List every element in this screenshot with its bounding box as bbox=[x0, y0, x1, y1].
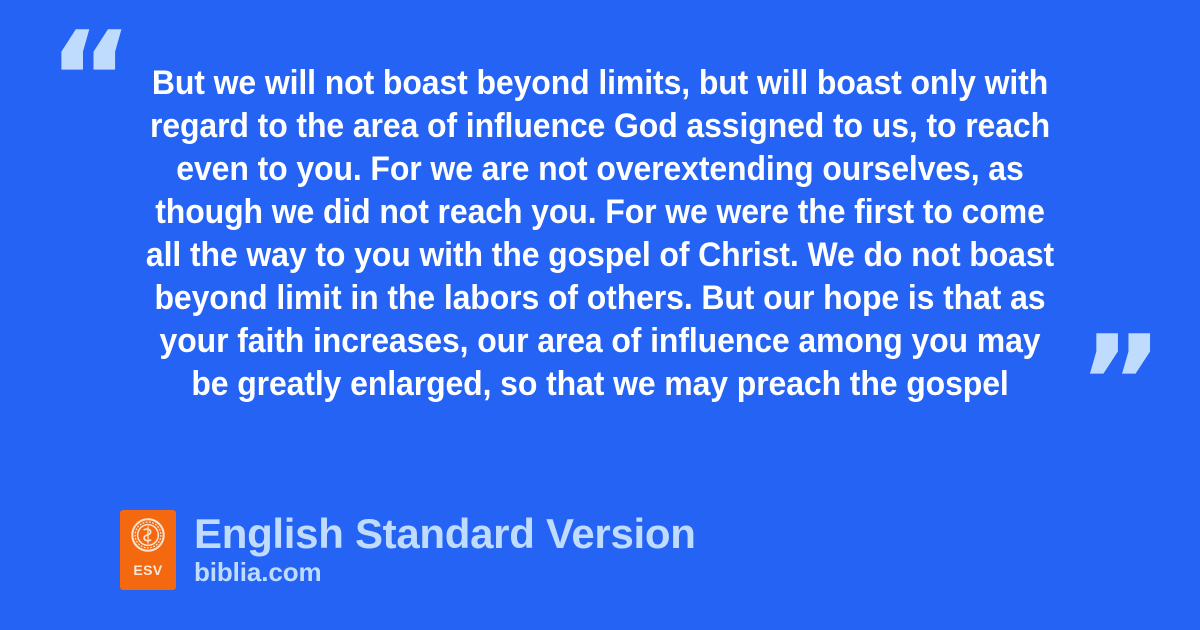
bible-version-name: English Standard Version bbox=[194, 512, 696, 556]
verse-text-block: But we will not boast beyond limits, but… bbox=[100, 62, 1100, 406]
attribution-text: English Standard Version biblia.com bbox=[194, 510, 696, 586]
verse-line: though we did not reach you. For we were… bbox=[130, 191, 1070, 234]
verse-line: But we will not boast beyond limits, but… bbox=[130, 62, 1070, 105]
bible-verse-card: “ ” But we will not boast beyond limits,… bbox=[0, 0, 1200, 630]
verse-line: all the way to you with the gospel of Ch… bbox=[130, 234, 1070, 277]
esv-seal-icon bbox=[131, 518, 165, 552]
verse-line: beyond limit in the labors of others. Bu… bbox=[130, 277, 1070, 320]
verse-line: regard to the area of influence God assi… bbox=[130, 105, 1070, 148]
esv-badge-label: ESV bbox=[133, 563, 162, 577]
attribution: ESV English Standard Version biblia.com bbox=[120, 510, 696, 590]
verse-line: your faith increases, our area of influe… bbox=[130, 320, 1070, 363]
verse-line: even to you. For we are not overextendin… bbox=[130, 148, 1070, 191]
site-url: biblia.com bbox=[194, 558, 696, 586]
verse-line: be greatly enlarged, so that we may prea… bbox=[130, 363, 1070, 406]
esv-badge: ESV bbox=[120, 510, 176, 590]
